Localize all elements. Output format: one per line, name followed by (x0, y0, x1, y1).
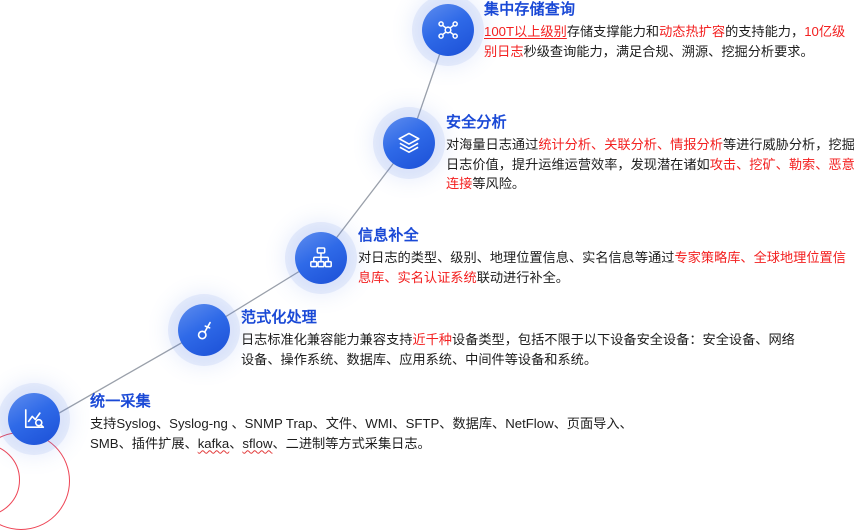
diagram-canvas: 集中存储查询 100T以上级别存储支撑能力和动态热扩容的支持能力，10亿级别日志… (0, 0, 864, 466)
step-title: 范式化处理 (241, 308, 801, 327)
step-node-security-analysis[interactable] (383, 117, 435, 169)
step-title: 信息补全 (358, 226, 856, 245)
segment-highlight: 近千种 (412, 332, 452, 347)
step-block-unified-collection: 统一采集 支持Syslog、Syslog-ng 、SNMP Trap、文件、WM… (90, 392, 650, 453)
step-title: 安全分析 (446, 113, 856, 132)
step-body: 日志标准化兼容能力兼容支持近千种设备类型，包括不限于以下设备安全设备：安全设备、… (241, 330, 801, 369)
segment-spellcheck: kafka (198, 436, 230, 451)
step-block-security-analysis: 安全分析 对海量日志通过统计分析、关联分析、情报分析等进行威胁分析，挖掘日志价值… (446, 113, 856, 194)
network-nodes-icon (435, 17, 461, 43)
segment-text: 日志标准化兼容能力兼容支持 (241, 332, 412, 347)
step-body: 支持Syslog、Syslog-ng 、SNMP Trap、文件、WMI、SFT… (90, 414, 650, 453)
layers-stack-icon (396, 130, 422, 156)
segment-text: 存储支撑能力和 (567, 24, 659, 39)
segment-text: 秒级查询能力，满足合规、溯源、挖掘分析要求。 (524, 44, 814, 59)
segment-text: 的支持能力， (725, 24, 804, 39)
step-node-centralized-storage-query[interactable] (422, 4, 474, 56)
segment-text: 等风险。 (472, 176, 525, 191)
segment-spellcheck: sflow (242, 436, 272, 451)
segment-text: 对海量日志通过 (446, 137, 538, 152)
segment-highlight: 100T以上级别 (484, 24, 567, 39)
step-title: 集中存储查询 (484, 0, 856, 19)
step-title: 统一采集 (90, 392, 650, 411)
segment-text: 、二进制等方式采集日志。 (272, 436, 430, 451)
step-body: 100T以上级别存储支撑能力和动态热扩容的支持能力，10亿级别日志秒级查询能力，… (484, 22, 856, 61)
step-node-unified-collection[interactable] (8, 393, 60, 445)
step-body: 对日志的类型、级别、地理位置信息、实名信息等通过专家策略库、全球地理位置信息库、… (358, 248, 856, 287)
segment-text: 联动进行补全。 (477, 270, 569, 285)
step-node-information-enrichment[interactable] (295, 232, 347, 284)
step-block-centralized-storage-query: 集中存储查询 100T以上级别存储支撑能力和动态热扩容的支持能力，10亿级别日志… (484, 0, 856, 61)
segment-text: 、 (229, 436, 242, 451)
segment-highlight: 统计分析、关联分析、情报分析 (538, 137, 723, 152)
chart-search-icon (21, 406, 47, 432)
step-node-normalization-processing[interactable] (178, 304, 230, 356)
segment-highlight: 动态热扩容 (659, 24, 725, 39)
step-block-normalization-processing: 范式化处理 日志标准化兼容能力兼容支持近千种设备类型，包括不限于以下设备安全设备… (241, 308, 801, 369)
segment-text: 对日志的类型、级别、地理位置信息、实名信息等通过 (358, 250, 675, 265)
step-body: 对海量日志通过统计分析、关联分析、情报分析等进行威胁分析，挖掘日志价值，提升运维… (446, 135, 856, 194)
step-block-information-enrichment: 信息补全 对日志的类型、级别、地理位置信息、实名信息等通过专家策略库、全球地理位… (358, 226, 856, 287)
sitemap-hierarchy-icon (308, 245, 334, 271)
key-icon (191, 317, 217, 343)
